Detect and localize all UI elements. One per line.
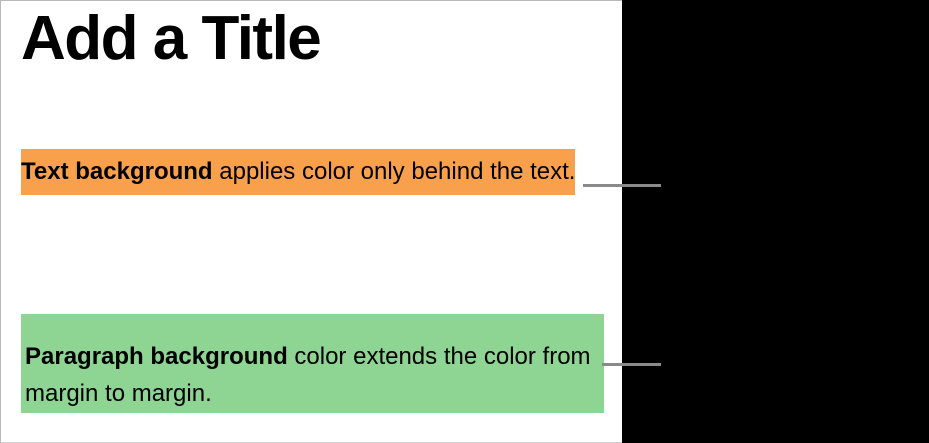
callout-leader-line-paragraph-background — [602, 363, 661, 366]
text-background-bold-run: Text background — [21, 158, 213, 185]
text-background-highlight: Text background applies color only behin… — [21, 149, 575, 195]
page-title[interactable]: Add a Title — [21, 6, 320, 72]
paragraph-background-block[interactable]: Paragraph background color extends the c… — [21, 314, 604, 413]
document-canvas[interactable]: Add a Title Text background applies colo… — [0, 0, 622, 443]
paragraph-background-paragraph: Paragraph background color extends the c… — [21, 338, 604, 412]
text-background-paragraph[interactable]: Text background applies color only behin… — [21, 153, 606, 190]
text-background-rest-run: applies color only behind the text. — [213, 158, 576, 185]
screenshot-root: Add a Title Text background applies colo… — [0, 0, 929, 443]
callout-leader-line-text-background — [583, 184, 661, 187]
paragraph-background-bold-run: Paragraph background — [25, 343, 288, 370]
